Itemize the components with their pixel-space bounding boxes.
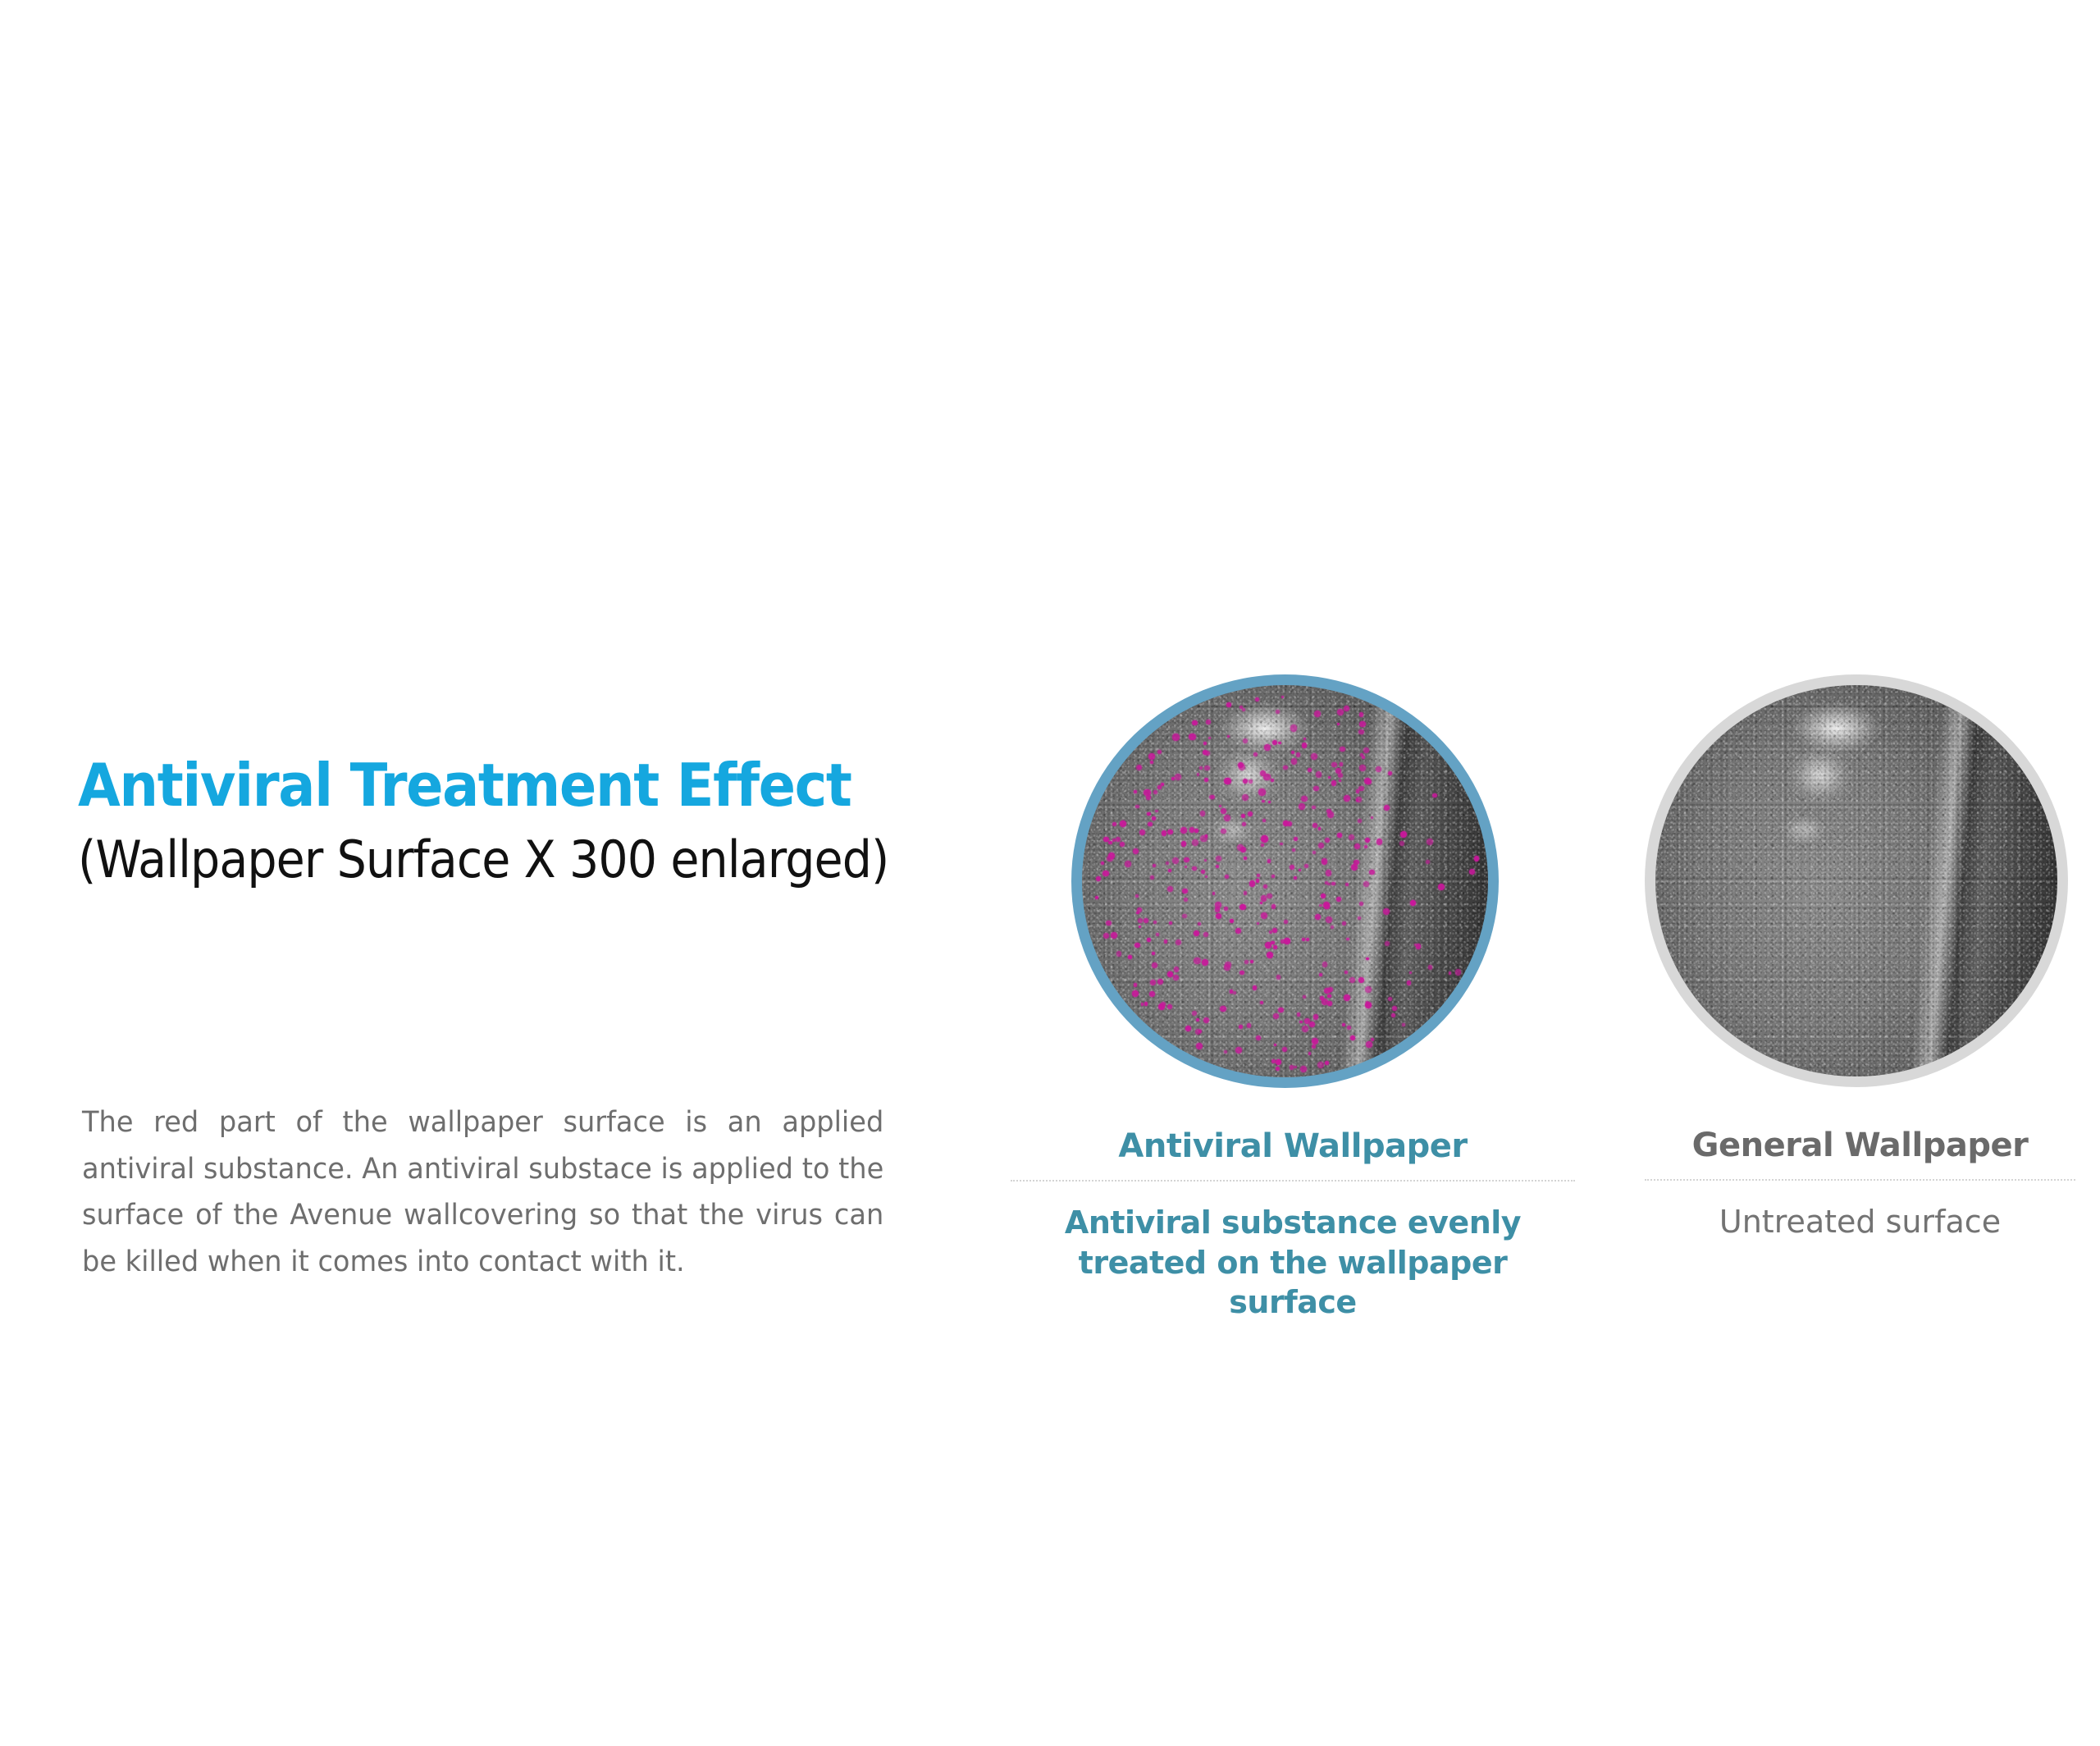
antiviral-particles-overlay xyxy=(1082,685,1488,1077)
page-title: Antiviral Treatment Effect xyxy=(78,755,864,817)
caption-heading-general: General Wallpaper xyxy=(1645,1127,2075,1164)
caption-subtext-general: Untreated surface xyxy=(1645,1202,2075,1242)
general-wallpaper-micrograph xyxy=(1655,685,2057,1076)
caption-divider-left xyxy=(1011,1180,1575,1182)
text-column: Antiviral Treatment Effect (Wallpaper Su… xyxy=(78,755,923,888)
panel-general: General Wallpaper Untreated surface xyxy=(1645,674,2075,1242)
general-image-frame xyxy=(1645,674,2068,1087)
surface-grain-fine-texture xyxy=(1655,685,2057,1076)
caption-heading-antiviral: Antiviral Wallpaper xyxy=(1011,1127,1575,1165)
panel-antiviral: Antiviral Wallpaper Antiviral substance … xyxy=(1011,674,1575,1323)
antiviral-wallpaper-micrograph xyxy=(1082,685,1488,1077)
antiviral-treatment-infographic: Antiviral Treatment Effect (Wallpaper Su… xyxy=(0,0,2100,1746)
caption-subtext-antiviral: Antiviral substance evenly treated on th… xyxy=(1011,1203,1575,1323)
page-subtitle: (Wallpaper Surface X 300 enlarged) xyxy=(78,832,856,888)
antiviral-image-frame xyxy=(1071,674,1499,1088)
description-paragraph: The red part of the wallpaper surface is… xyxy=(82,1099,883,1286)
caption-divider-right xyxy=(1645,1179,2075,1181)
